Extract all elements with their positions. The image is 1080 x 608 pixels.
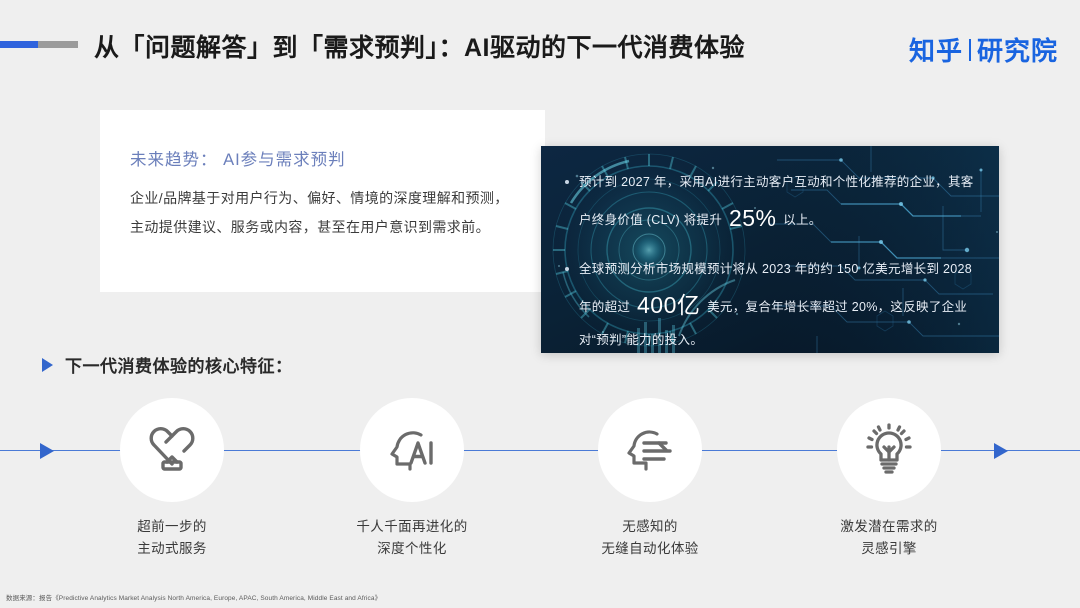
stats-list: 预计到 2027 年，采用AI进行主动客户互动和个性化推荐的企业，其客户终身价值… <box>541 146 999 353</box>
accent-segment-gray <box>38 41 78 48</box>
triangle-marker-icon <box>42 358 53 372</box>
heart-pedestal-icon <box>141 419 203 481</box>
accent-segment-blue <box>0 41 38 48</box>
brand-logo: 知乎 研究院 <box>909 31 1058 68</box>
feature-item-inspiration-engine[interactable]: 激发潜在需求的 灵感引擎 <box>789 398 989 561</box>
brand-logo-research: 研究院 <box>977 31 1058 68</box>
title-accent-bar <box>0 41 78 48</box>
feature-label: 无感知的 无缝自动化体验 <box>601 516 698 561</box>
feature-label: 千人千面再进化的 深度个性化 <box>356 516 467 561</box>
feature-list: 超前一步的 主动式服务 千人千面再进化的 深度个性化 <box>0 398 1080 568</box>
feature-item-seamless-automation[interactable]: 无感知的 无缝自动化体验 <box>550 398 750 561</box>
lightbulb-icon <box>858 419 920 481</box>
stat-text: 全球预测分析市场规模预计将从 2023 年的约 150 亿美元增长到 2028 … <box>579 257 977 353</box>
feature-icon-circle <box>120 398 224 502</box>
feature-label: 激发潜在需求的 灵感引擎 <box>840 516 937 561</box>
section-heading-text: 下一代消费体验的核心特征： <box>65 352 293 377</box>
bullet-icon <box>565 180 569 184</box>
bullet-icon <box>565 267 569 271</box>
head-ai-icon <box>381 419 443 481</box>
future-trend-card: 未来趋势： AI参与需求预判 企业/品牌基于对用户行为、偏好、情境的深度理解和预… <box>100 110 545 292</box>
feature-icon-circle <box>598 398 702 502</box>
trend-card-body: 企业/品牌基于对用户行为、偏好、情境的深度理解和预测，主动提供建议、服务或内容，… <box>130 184 515 241</box>
page-title: 从「问题解答」到「需求预判」：AI驱动的下一代消费体验 <box>94 28 745 64</box>
feature-item-proactive-service[interactable]: 超前一步的 主动式服务 <box>72 398 272 561</box>
page-header: 从「问题解答」到「需求预判」：AI驱动的下一代消费体验 知乎 研究院 <box>0 0 1080 88</box>
stats-tech-card: 预计到 2027 年，采用AI进行主动客户互动和个性化推荐的企业，其客户终身价值… <box>541 146 999 353</box>
feature-label: 超前一步的 主动式服务 <box>137 516 207 561</box>
stat-item: 全球预测分析市场规模预计将从 2023 年的约 150 亿美元增长到 2028 … <box>565 257 977 353</box>
feature-icon-circle <box>360 398 464 502</box>
brand-logo-divider <box>969 39 971 61</box>
brand-logo-zhihu: 知乎 <box>909 31 963 68</box>
section-heading: 下一代消费体验的核心特征： <box>42 352 293 377</box>
stat-text: 预计到 2027 年，采用AI进行主动客户互动和个性化推荐的企业，其客户终身价值… <box>579 170 977 241</box>
stat-item: 预计到 2027 年，采用AI进行主动客户互动和个性化推荐的企业，其客户终身价值… <box>565 170 977 241</box>
head-flow-icon <box>619 419 681 481</box>
feature-icon-circle <box>837 398 941 502</box>
source-note: 数据来源：报告《Predictive Analytics Market Anal… <box>6 592 381 602</box>
stat-highlight: 25% <box>726 205 780 231</box>
trend-card-title: 未来趋势： AI参与需求预判 <box>130 146 515 170</box>
stat-highlight: 400亿 <box>634 292 703 318</box>
stat-suffix: 以上。 <box>779 213 821 227</box>
feature-item-deep-personalization[interactable]: 千人千面再进化的 深度个性化 <box>312 398 512 561</box>
